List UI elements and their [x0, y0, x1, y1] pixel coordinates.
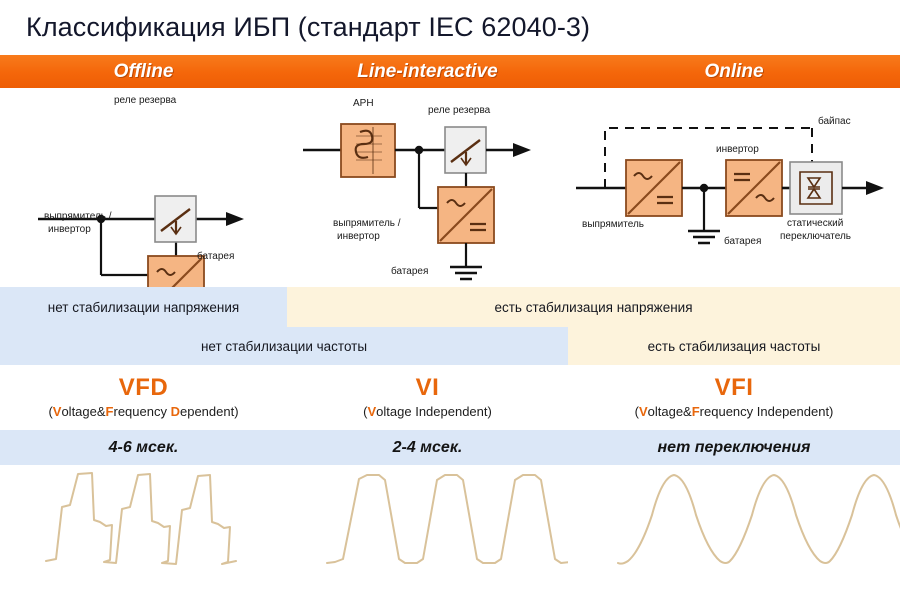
waveform-online: [568, 465, 900, 594]
acronym-vfd-code: VFD: [119, 374, 169, 402]
acronym-vfd-expansion: (Voltage&Frequency Dependent): [48, 402, 238, 422]
waveform-line-interactive: [287, 465, 568, 594]
label-li-converter-line1: выпрямитель /: [333, 218, 401, 230]
label-li-converter-line2: инвертор: [337, 231, 380, 243]
label-online-static-switch-line1: статический: [787, 218, 843, 230]
label-online-static-switch-line2: переключатель: [780, 231, 851, 243]
page-title-text: Классификация ИБП (стандарт IEC 62040-3): [26, 12, 590, 43]
acronym-vfi-code: VFI: [715, 374, 754, 402]
page-title: Классификация ИБП (стандарт IEC 62040-3): [0, 0, 900, 55]
acronym-vfi: VFI (Voltage&Frequency Independent): [568, 365, 900, 430]
acronym-vi-expansion: (Voltage Independent): [363, 402, 492, 422]
frequency-stabilization-row: нет стабилизации частоты есть стабилизац…: [0, 327, 900, 365]
column-header-line-interactive[interactable]: Line-interactive: [287, 55, 568, 88]
label-li-avr: АРН: [353, 98, 374, 110]
frequency-band-none: нет стабилизации частоты: [0, 327, 568, 365]
label-offline-relay: реле резерва: [114, 95, 176, 107]
acronym-row: VFD (Voltage&Frequency Dependent) VI (Vo…: [0, 365, 900, 430]
label-online-battery: батарея: [724, 236, 761, 248]
voltage-band-present: есть стабилизация напряжения: [287, 287, 900, 327]
waveform-line-interactive-svg: [287, 465, 568, 594]
diagram-row: реле резерва выпрямитель / инвертор бата…: [0, 88, 900, 287]
label-online-rectifier: выпрямитель: [582, 219, 644, 231]
diagram-line-interactive: АРН реле резерва выпрямитель / инвертор …: [287, 88, 568, 287]
waveform-row: [0, 465, 900, 594]
diagram-offline: реле резерва выпрямитель / инвертор бата…: [0, 88, 287, 287]
label-offline-battery: батарея: [197, 251, 234, 263]
label-offline-converter-line1: выпрямитель /: [44, 211, 112, 223]
column-header-offline[interactable]: Offline: [0, 55, 287, 88]
column-header-online[interactable]: Online: [568, 55, 900, 88]
label-li-relay: реле резерва: [428, 105, 490, 117]
waveform-offline-svg: [0, 465, 287, 594]
switching-time-row: 4-6 мсек. 2-4 мсек. нет переключения: [0, 430, 900, 465]
diagram-online: байпас выпрямитель инвертор батарея стат…: [568, 88, 900, 287]
acronym-vfd: VFD (Voltage&Frequency Dependent): [0, 365, 287, 430]
waveform-online-svg: [568, 465, 900, 594]
label-offline-converter-line2: инвертор: [48, 224, 91, 236]
waveform-offline: [0, 465, 287, 594]
voltage-stabilization-row: нет стабилизации напряжения есть стабили…: [0, 287, 900, 327]
acronym-vi-code: VI: [416, 374, 440, 402]
switching-time-online: нет переключения: [568, 430, 900, 465]
switching-time-line-interactive: 2-4 мсек.: [287, 430, 568, 465]
diagram-line-interactive-svg: [287, 88, 568, 287]
diagram-offline-svg: [0, 88, 287, 287]
label-li-battery: батарея: [391, 266, 428, 278]
acronym-vfi-expansion: (Voltage&Frequency Independent): [635, 402, 834, 422]
label-online-bypass: байпас: [818, 116, 851, 128]
frequency-band-present: есть стабилизация частоты: [568, 327, 900, 365]
switching-time-offline: 4-6 мсек.: [0, 430, 287, 465]
voltage-band-none: нет стабилизации напряжения: [0, 287, 287, 327]
label-online-inverter: инвертор: [716, 144, 759, 156]
ups-classification-infographic: Классификация ИБП (стандарт IEC 62040-3)…: [0, 0, 900, 594]
acronym-vi: VI (Voltage Independent): [287, 365, 568, 430]
